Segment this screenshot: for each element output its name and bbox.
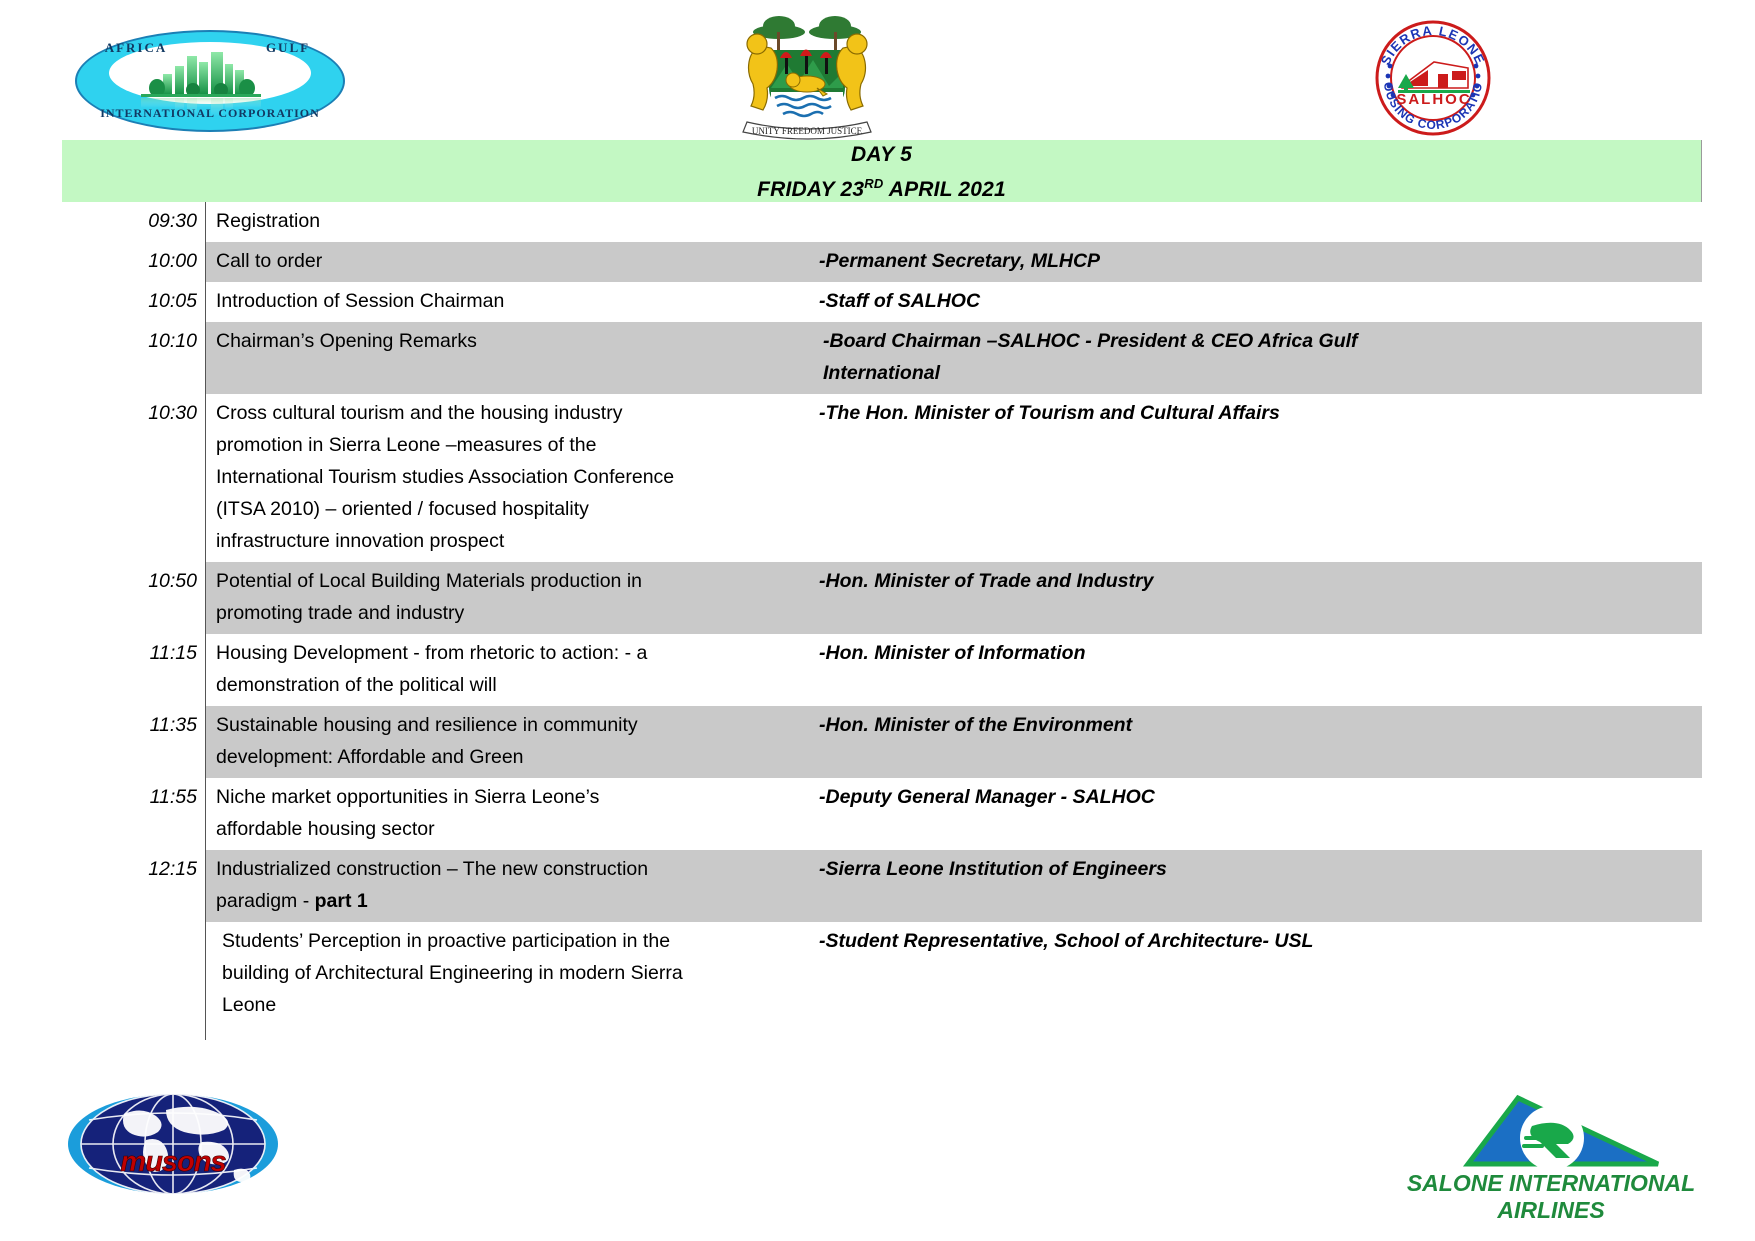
sierra-leone-coat-of-arms-logo: UNITY FREEDOM JUSTICE [717,10,897,140]
agenda-topic: Call to order [205,242,805,282]
agenda-speaker-line: -Staff of SALHOC [819,285,1692,317]
agenda-row: Students’ Perception in proactive partic… [62,922,1702,1026]
agenda-speaker: -Hon. Minister of Trade and Industry [805,562,1702,634]
agenda-speaker: -The Hon. Minister of Tourism and Cultur… [805,394,1702,562]
agenda-row: 12:15Industrialized construction – The n… [62,850,1702,922]
salhoc-wordmark: SALHOC [1396,91,1471,108]
agenda-topic-line: promoting trade and industry [216,597,795,629]
agenda-topic-line: demonstration of the political will [216,669,795,701]
agenda-topic-line: infrastructure innovation prospect [216,525,795,557]
agenda-table: 09:30Registration10:00Call to order-Perm… [62,202,1702,1026]
agenda-speaker: -Hon. Minister of the Environment [805,706,1702,778]
agenda-topic-line: paradigm - part 1 [216,885,795,917]
africa-gulf-text-gulf: GULF [153,40,423,56]
agenda-speaker-line: -The Hon. Minister of Tourism and Cultur… [819,397,1692,429]
agenda-time: 10:10 [62,322,205,394]
agenda-speaker: -Permanent Secretary, MLHCP [805,242,1702,282]
agenda-topic-line: Introduction of Session Chairman [216,285,795,317]
agenda-speaker [805,202,1702,242]
agenda-speaker-line: -Hon. Minister of Trade and Industry [819,565,1692,597]
agenda-topic-line: promotion in Sierra Leone –measures of t… [216,429,795,461]
day-date-main: FRIDAY 23 [757,178,864,201]
agenda-topic-emphasis: part 1 [315,890,368,912]
agenda-row: 10:50Potential of Local Building Materia… [62,562,1702,634]
agenda-speaker-line: -Permanent Secretary, MLHCP [819,245,1692,277]
agenda-speaker-line: -Board Chairman –SALHOC - President & CE… [823,325,1692,357]
agenda-topic-line: Housing Development - from rhetoric to a… [216,637,795,669]
agenda-topic: Niche market opportunities in Sierra Leo… [205,778,805,850]
agenda-topic-line: Students’ Perception in proactive partic… [222,925,795,957]
agenda-row: 11:15Housing Development - from rhetoric… [62,634,1702,706]
salhoc-logo: SIERRA LEONE HOUSING CORPORATION SALHOC [1368,14,1498,140]
agenda-row: 09:30Registration [62,202,1702,242]
agenda-row: 10:05Introduction of Session Chairman-St… [62,282,1702,322]
musons-wordmark: musons [62,1146,284,1179]
agenda-time: 11:55 [62,778,205,850]
agenda-time: 11:15 [62,634,205,706]
agenda-topic-line: Niche market opportunities in Sierra Leo… [216,781,795,813]
day-label: DAY 5 [851,140,912,169]
agenda-topic-line: Industrialized construction – The new co… [216,853,795,885]
salone-wordmark: SALONE INTERNATIONAL AIRLINES [1406,1170,1696,1224]
africa-gulf-text-corporation: INTERNATIONAL CORPORATION [75,106,345,121]
salhoc-icon: SIERRA LEONE HOUSING CORPORATION SALHOC [1368,14,1498,140]
agenda-topic-line: Potential of Local Building Materials pr… [216,565,795,597]
agenda-topic: Housing Development - from rhetoric to a… [205,634,805,706]
day-header-banner: DAY 5 FRIDAY 23RD APRIL 2021 [62,140,1702,202]
agenda-topic-line: Chairman’s Opening Remarks [216,325,795,357]
agenda-row: 10:30Cross cultural tourism and the hous… [62,394,1702,562]
agenda-time: 10:30 [62,394,205,562]
agenda-time [62,922,205,1026]
agenda-speaker-line: -Student Representative, School of Archi… [819,925,1692,957]
agenda-topic-line: Registration [216,205,795,237]
top-logo-band: AFRICA GULF INTERNATIONAL CORPORATION [0,0,1755,140]
agenda-speaker: -Staff of SALHOC [805,282,1702,322]
day-date-ordinal: RD [864,176,883,191]
agenda-time: 12:15 [62,850,205,922]
agenda-topic: Students’ Perception in proactive partic… [205,922,805,1026]
agenda-topic: Sustainable housing and resilience in co… [205,706,805,778]
coat-of-arms-icon: UNITY FREEDOM JUSTICE [717,10,897,140]
agenda-speaker-line: -Hon. Minister of the Environment [819,709,1692,741]
agenda-row: 10:00Call to order-Permanent Secretary, … [62,242,1702,282]
agenda-time: 09:30 [62,202,205,242]
agenda-topic: Registration [205,202,805,242]
agenda-topic: Cross cultural tourism and the housing i… [205,394,805,562]
agenda-speaker: -Sierra Leone Institution of Engineers [805,850,1702,922]
musons-logo: musons [62,1088,284,1228]
agenda-time: 11:35 [62,706,205,778]
agenda-speaker-line: -Deputy General Manager - SALHOC [819,781,1692,813]
agenda-speaker-line: International [823,357,1692,389]
day-date: FRIDAY 23RD APRIL 2021 [757,169,1006,204]
salone-international-airlines-logo: SALONE INTERNATIONAL AIRLINES [1406,1088,1696,1208]
agenda-speaker: -Deputy General Manager - SALHOC [805,778,1702,850]
agenda-topic-line: Cross cultural tourism and the housing i… [216,397,795,429]
africa-gulf-logo: AFRICA GULF INTERNATIONAL CORPORATION [75,22,345,140]
agenda-topic-line: Leone [222,989,795,1021]
agenda-topic-line: Sustainable housing and resilience in co… [216,709,795,741]
agenda-topic-line: affordable housing sector [216,813,795,845]
agenda-topic-line: (ITSA 2010) – oriented / focused hospita… [216,493,795,525]
agenda-speaker-line: -Hon. Minister of Information [819,637,1692,669]
coat-of-arms-motto: UNITY FREEDOM JUSTICE [752,126,863,136]
agenda-topic: Industrialized construction – The new co… [205,850,805,922]
agenda-topic: Potential of Local Building Materials pr… [205,562,805,634]
agenda-time: 10:00 [62,242,205,282]
agenda-row: 10:10Chairman’s Opening Remarks-Board Ch… [62,322,1702,394]
agenda-speaker: -Board Chairman –SALHOC - President & CE… [805,322,1702,394]
agenda-topic: Chairman’s Opening Remarks [205,322,805,394]
agenda-topic: Introduction of Session Chairman [205,282,805,322]
agenda-speaker: -Hon. Minister of Information [805,634,1702,706]
table-column-divider [205,202,206,1040]
day-date-rest: APRIL 2021 [883,178,1005,201]
agenda-topic-line: development: Affordable and Green [216,741,795,773]
agenda-speaker-line: -Sierra Leone Institution of Engineers [819,853,1692,885]
agenda-topic-line: building of Architectural Engineering in… [222,957,795,989]
agenda-time: 10:50 [62,562,205,634]
agenda-topic-line: International Tourism studies Associatio… [216,461,795,493]
agenda-topic-line: Call to order [216,245,795,277]
agenda-time: 10:05 [62,282,205,322]
agenda-speaker: -Student Representative, School of Archi… [805,922,1702,1026]
agenda-row: 11:55Niche market opportunities in Sierr… [62,778,1702,850]
agenda-row: 11:35Sustainable housing and resilience … [62,706,1702,778]
